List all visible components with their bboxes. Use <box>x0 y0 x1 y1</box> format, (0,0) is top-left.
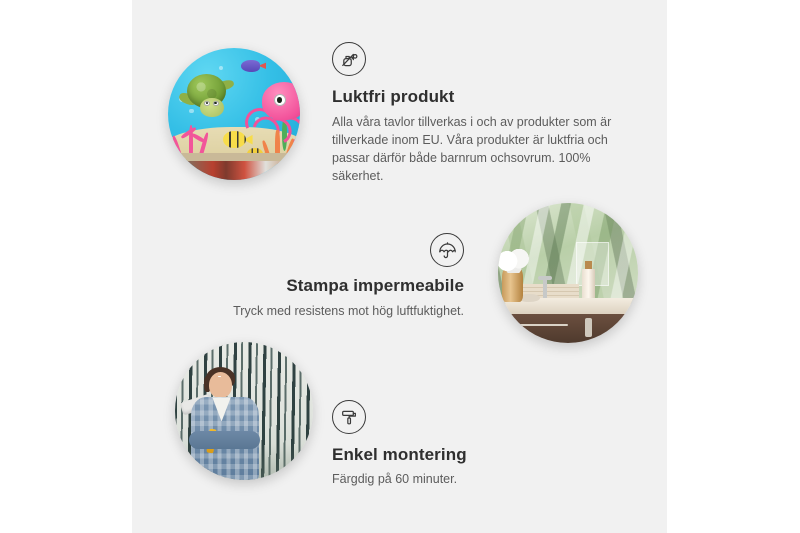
icon-wrapper <box>222 233 464 267</box>
turtle-illustration <box>183 74 236 118</box>
fish-illustration <box>223 131 245 148</box>
feature-body: Färgdig på 60 minuter. <box>332 470 572 488</box>
person-illustration <box>186 370 263 480</box>
feature-odour-free: Luktfri produkt Alla våra tavlor tillver… <box>332 42 624 186</box>
feature-body: Alla våra tavlor tillverkas i och av pro… <box>332 113 624 186</box>
feature-title: Luktfri produkt <box>332 87 624 107</box>
fish-illustration <box>241 60 261 72</box>
faucet <box>543 276 547 300</box>
paint-roller-icon <box>332 400 366 434</box>
umbrella-icon <box>430 233 464 267</box>
feature-easy-assembly: Enkel montering Färgdig på 60 minuter. <box>332 400 572 488</box>
no-fragrance-icon <box>332 42 366 76</box>
photo-installer <box>175 342 313 480</box>
vanity-cabinet <box>498 314 638 343</box>
feature-body: Tryck med resistens mot hög luftfuktighe… <box>222 302 464 320</box>
feature-title: Enkel montering <box>332 445 572 465</box>
product-feature-graphic: Luktfri produkt Alla våra tavlor tillver… <box>0 0 800 533</box>
feature-title: Stampa impermeabile <box>222 276 464 296</box>
room-foreground-strip <box>168 159 300 180</box>
flowers <box>498 249 529 273</box>
photo-bathroom <box>498 203 638 343</box>
photo-aquarium <box>168 48 300 180</box>
feature-waterproof: Stampa impermeabile Tryck med resistens … <box>222 233 464 320</box>
